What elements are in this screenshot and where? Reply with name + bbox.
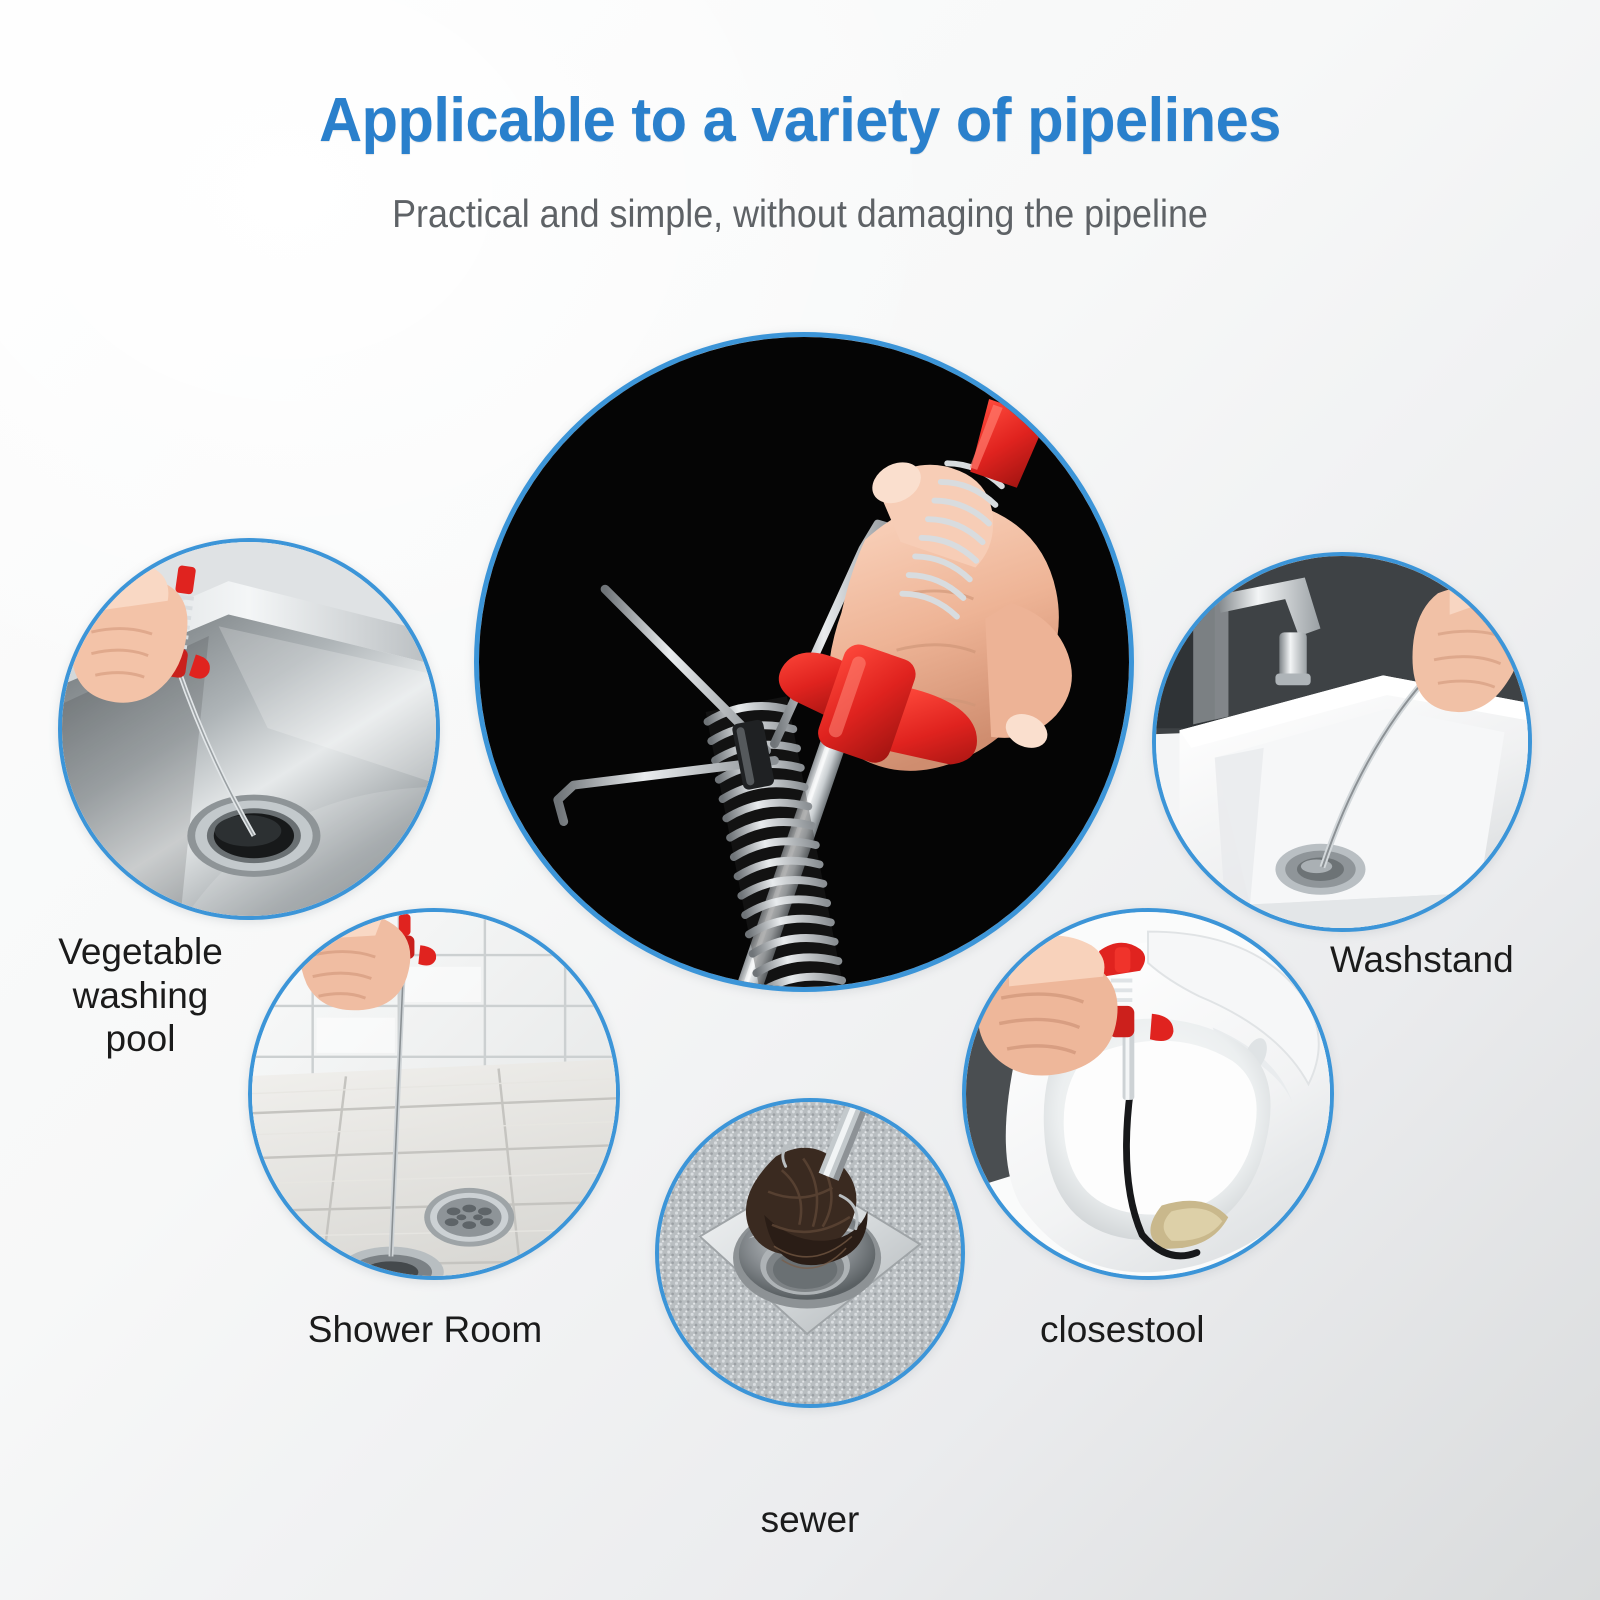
scene-vegetable-washing-pool[interactable] — [58, 538, 440, 920]
caption-washstand: Washstand — [1330, 938, 1596, 982]
scene-closestool[interactable] — [962, 908, 1334, 1280]
scene-sewer[interactable] — [655, 1098, 965, 1408]
scene-product-closeup[interactable] — [474, 332, 1134, 992]
shower-room-illustration — [252, 912, 616, 1276]
infographic-canvas: Applicable to a variety of pipelines Pra… — [0, 0, 1600, 1600]
scene-shower-room[interactable] — [248, 908, 620, 1280]
caption-shower-room: Shower Room — [300, 1308, 550, 1352]
caption-closestool: closestool — [1040, 1308, 1280, 1352]
caption-vegetable-washing-pool: Vegetable washing pool — [8, 930, 273, 1061]
product-closeup-illustration — [479, 337, 1129, 987]
page-title: Applicable to a variety of pipelines — [32, 88, 1568, 154]
page-subtitle: Practical and simple, without damaging t… — [64, 192, 1536, 239]
washstand-illustration — [1156, 556, 1528, 928]
vegetable-pool-illustration — [62, 542, 436, 916]
scene-washstand[interactable] — [1152, 552, 1532, 932]
hand — [300, 912, 410, 1010]
closestool-illustration — [966, 912, 1330, 1276]
sewer-illustration — [659, 1102, 961, 1404]
hand — [978, 935, 1117, 1075]
caption-sewer: sewer — [700, 1498, 920, 1542]
